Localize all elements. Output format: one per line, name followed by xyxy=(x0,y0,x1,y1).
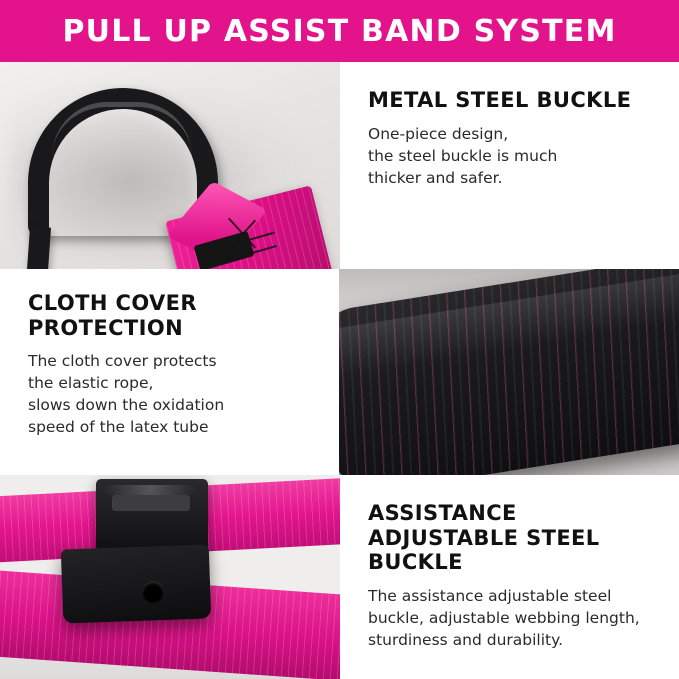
product-feature-infographic: PULL UP ASSIST BAND SYSTEM METAL STEEL B… xyxy=(0,0,679,679)
feature-title-metal-steel-buckle: METAL STEEL BUCKLE xyxy=(368,88,661,113)
carabiner-photo xyxy=(0,62,340,269)
feature-text-3: ASSISTANCE ADJUSTABLE STEEL BUCKLE The a… xyxy=(340,475,679,679)
feature-body-metal-steel-buckle: One-piece design, the steel buckle is mu… xyxy=(368,123,661,189)
hook-leg-left xyxy=(26,226,51,269)
buckle-lower-body xyxy=(61,544,211,623)
adjustable-buckle-photo xyxy=(0,475,340,679)
cloth-cover-photo xyxy=(339,269,679,475)
buckle-highlight xyxy=(104,485,196,495)
buckle-hole xyxy=(142,581,164,603)
feature-row-2: CLOTH COVER PROTECTION The cloth cover p… xyxy=(0,269,679,475)
feature-title-cloth-cover-protection: CLOTH COVER PROTECTION xyxy=(28,291,321,340)
feature-title-assistance-adjustable-steel-buckle: ASSISTANCE ADJUSTABLE STEEL BUCKLE xyxy=(368,501,661,575)
buckle-slot xyxy=(112,495,190,511)
page-title: PULL UP ASSIST BAND SYSTEM xyxy=(62,14,616,49)
feature-row-1: METAL STEEL BUCKLE One-piece design, the… xyxy=(0,62,679,269)
feature-text-2: CLOTH COVER PROTECTION The cloth cover p… xyxy=(0,269,339,475)
header-banner: PULL UP ASSIST BAND SYSTEM xyxy=(0,0,679,62)
feature-body-assistance-adjustable-steel-buckle: The assistance adjustable steel buckle, … xyxy=(368,585,661,651)
feature-body-cloth-cover-protection: The cloth cover protects the elastic rop… xyxy=(28,350,321,438)
feature-row-3: ASSISTANCE ADJUSTABLE STEEL BUCKLE The a… xyxy=(0,475,679,679)
feature-text-1: METAL STEEL BUCKLE One-piece design, the… xyxy=(340,62,679,269)
